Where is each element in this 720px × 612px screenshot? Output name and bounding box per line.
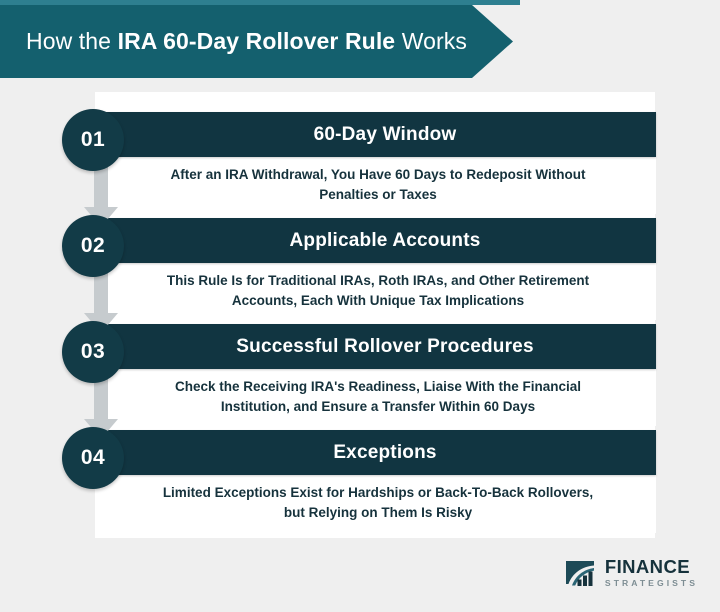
step-title: 60-Day Window [288,124,469,146]
brand-subtitle: STRATEGISTS [605,579,698,588]
step-number-badge: 03 [62,321,124,383]
page-title-emphasis: IRA 60-Day Rollover Rule [118,28,396,54]
brand-logo: FINANCE STRATEGISTS [564,558,698,588]
step-description-text: After an IRA Withdrawal, You Have 60 Day… [154,165,602,204]
page-title-suffix: Works [395,28,467,54]
step-number-badge: 04 [62,427,124,489]
step-description-text: Check the Receiving IRA's Readiness, Lia… [154,377,602,416]
steps-list: 01 60-Day Window After an IRA Withdrawal… [62,112,656,537]
header-banner: How the IRA 60-Day Rollover Rule Works [0,5,513,78]
step-description-box: Limited Exceptions Exist for Hardships o… [100,475,656,532]
step-header-bar: Exceptions [100,430,656,475]
page-title: How the IRA 60-Day Rollover Rule Works [26,28,467,55]
step-description-box: After an IRA Withdrawal, You Have 60 Day… [100,157,656,214]
step-item: 01 60-Day Window After an IRA Withdrawal… [62,112,656,214]
bar-chart-arc-icon [564,558,598,588]
step-description-text: Limited Exceptions Exist for Hardships o… [154,483,602,522]
page-title-prefix: How the [26,28,118,54]
step-header-bar: 60-Day Window [100,112,656,157]
step-description-box: This Rule Is for Traditional IRAs, Roth … [100,263,656,320]
step-title: Applicable Accounts [263,230,492,252]
step-item: 03 Successful Rollover Procedures Check … [62,324,656,426]
step-number-badge: 01 [62,109,124,171]
brand-logo-text: FINANCE STRATEGISTS [605,558,698,587]
step-number-badge: 02 [62,215,124,277]
step-title: Successful Rollover Procedures [210,336,545,358]
step-description-box: Check the Receiving IRA's Readiness, Lia… [100,369,656,426]
top-accent-strip [0,0,520,5]
brand-name: FINANCE [605,558,698,577]
step-description-text: This Rule Is for Traditional IRAs, Roth … [154,271,602,310]
step-header-bar: Applicable Accounts [100,218,656,263]
step-header-bar: Successful Rollover Procedures [100,324,656,369]
step-title: Exceptions [307,442,448,464]
step-item: 02 Applicable Accounts This Rule Is for … [62,218,656,320]
step-item: 04 Exceptions Limited Exceptions Exist f… [62,430,656,532]
